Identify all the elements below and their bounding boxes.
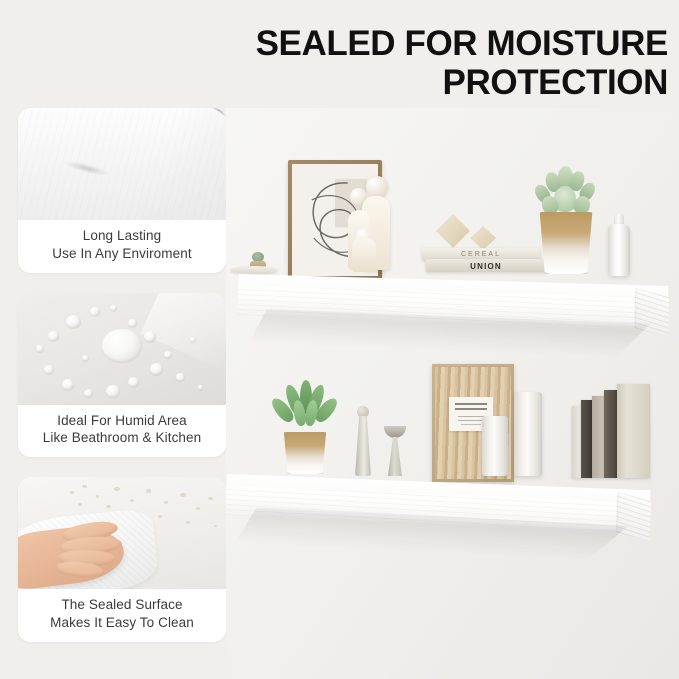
feature-card-list: Long Lasting Use In Any Enviroment <box>18 108 226 662</box>
water-drop <box>190 337 196 342</box>
hand-wiping-image <box>18 477 226 589</box>
water-drop <box>144 331 156 342</box>
water-drop <box>84 389 93 397</box>
water-drop <box>128 377 139 387</box>
book-label-cereal: CEREAL <box>422 251 540 258</box>
book-union: UNION <box>426 259 546 272</box>
book-spine <box>617 384 650 478</box>
geometric-star-large <box>436 214 470 248</box>
water-drop <box>48 331 59 341</box>
water-drop <box>82 355 89 361</box>
headline-line-2: PROTECTION <box>176 63 668 102</box>
lower-shelf-group <box>226 358 679 578</box>
caption-line-1: Ideal For Humid Area <box>24 412 220 430</box>
book-spine <box>592 396 604 478</box>
family-figurine-sculpture <box>338 176 394 274</box>
green-plant-planter <box>274 380 336 476</box>
shelf-end-cap <box>616 492 651 542</box>
upright-book-stack <box>572 382 650 478</box>
water-droplets-image <box>18 293 226 405</box>
feature-card-moisture: Ideal For Humid Area Like Beathroom & Ki… <box>18 293 226 458</box>
succulent-foliage <box>536 166 596 216</box>
water-drop <box>44 365 54 374</box>
upper-shelf-group: CEREAL UNION <box>226 148 679 368</box>
product-photo: CEREAL UNION <box>226 108 679 679</box>
feature-card-durability: Long Lasting Use In Any Enviroment <box>18 108 226 273</box>
water-drop <box>176 373 185 381</box>
water-drop <box>36 345 44 352</box>
water-drop <box>198 385 203 390</box>
water-drop <box>110 305 117 311</box>
water-drop-large <box>102 329 142 362</box>
water-drop <box>90 307 100 316</box>
screwdriver-image <box>18 108 226 220</box>
water-drop <box>106 385 120 397</box>
water-drop <box>150 363 163 375</box>
caption-line-1: The Sealed Surface <box>24 596 220 614</box>
page-title: SEALED FOR MOISTURE PROTECTION <box>176 24 668 102</box>
ceramic-figure-tall <box>354 406 372 476</box>
water-drop <box>128 319 137 327</box>
plant-foliage <box>274 380 336 438</box>
wood-grain-texture <box>18 108 226 220</box>
caption-line-2: Like Beathroom & Kitchen <box>24 429 220 447</box>
feature-card-caption: The Sealed Surface Makes It Easy To Clea… <box>18 589 226 642</box>
water-drop <box>62 379 74 390</box>
book-stack-with-gems: CEREAL UNION <box>422 214 546 276</box>
gold-white-pot <box>538 212 594 274</box>
gold-speckled-pot <box>282 432 328 474</box>
geometric-star-small <box>470 226 496 250</box>
headline-line-1: SEALED FOR MOISTURE <box>176 24 668 63</box>
book-spine <box>604 390 617 478</box>
succulent-planter <box>532 166 600 276</box>
book-spine <box>581 400 592 478</box>
feature-card-caption: Ideal For Humid Area Like Beathroom & Ki… <box>18 405 226 458</box>
decor-tray <box>230 266 278 274</box>
water-drop <box>66 315 81 328</box>
caption-line-1: Long Lasting <box>24 227 220 245</box>
book-label-union: UNION <box>426 262 546 271</box>
ceramic-figure-short <box>384 426 406 476</box>
book-spine <box>572 406 581 478</box>
white-cylinder-vase-tall <box>514 392 542 476</box>
white-ceramic-bottle <box>608 214 630 276</box>
water-drop <box>164 351 172 358</box>
feature-card-caption: Long Lasting Use In Any Enviroment <box>18 220 226 273</box>
feature-card-cleaning: The Sealed Surface Makes It Easy To Clea… <box>18 477 226 642</box>
caption-line-2: Use In Any Enviroment <box>24 245 220 263</box>
infographic-stage: SEALED FOR MOISTURE PROTECTION Long Last… <box>0 0 679 679</box>
white-cylinder-vase-short <box>482 416 508 476</box>
caption-line-2: Makes It Easy To Clean <box>24 614 220 632</box>
